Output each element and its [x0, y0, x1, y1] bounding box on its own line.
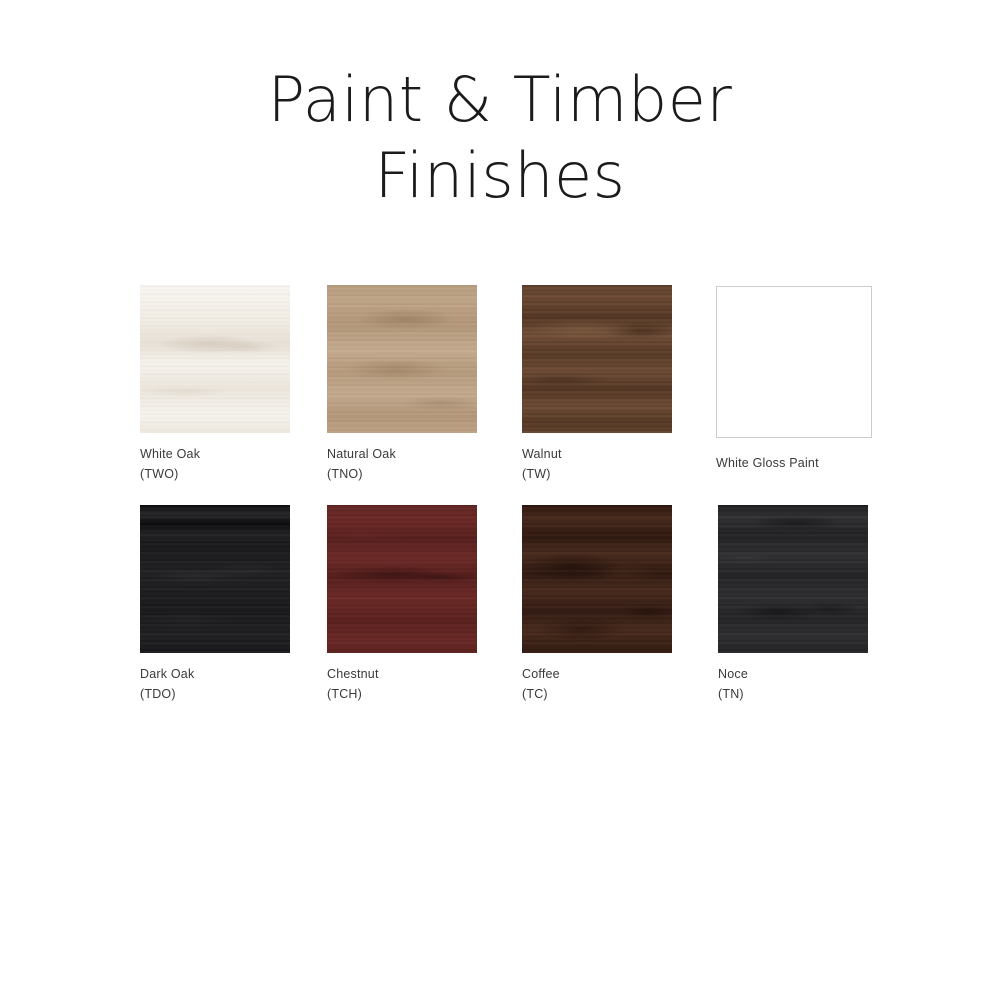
wood-grain-figure-texture — [522, 285, 672, 433]
wood-grain-figure-texture — [718, 505, 868, 653]
wood-grain-bands-texture — [140, 285, 290, 433]
wood-grain-fine-texture — [140, 505, 290, 653]
swatch-name: Chestnut — [327, 667, 379, 681]
swatch-chip-natural-oak[interactable] — [327, 285, 477, 433]
wood-grain-bands-texture — [140, 505, 290, 653]
swatch-dark-oak[interactable]: Dark Oak (TDO) — [140, 505, 290, 704]
swatch-name: Noce — [718, 667, 748, 681]
wood-grain-figure-texture — [522, 505, 672, 653]
swatch-code: (TWO) — [140, 464, 290, 484]
swatch-chip-noce[interactable] — [718, 505, 868, 653]
swatch-label-noce: Noce (TN) — [718, 664, 868, 704]
swatch-name: White Gloss Paint — [716, 456, 819, 470]
swatch-code: (TCH) — [327, 684, 477, 704]
swatch-noce[interactable]: Noce (TN) — [718, 505, 868, 704]
finishes-page: { "page": { "title": "Paint & Timber\nFi… — [0, 0, 1000, 1000]
wood-grain-figure-texture — [327, 285, 477, 433]
swatch-code: (TC) — [522, 684, 672, 704]
wood-grain-fine-texture — [522, 505, 672, 653]
swatch-row: Dark Oak (TDO) Chestnut (TCH) Coffee — [140, 505, 900, 725]
wood-grain-fine-texture — [327, 505, 477, 653]
wood-grain-bands-texture — [327, 285, 477, 433]
swatch-row: White Oak (TWO) Natural Oak (TNO) Wa — [140, 285, 900, 505]
wood-grain-fine-texture — [327, 285, 477, 433]
wood-grain-bands-texture — [522, 285, 672, 433]
swatch-name: Walnut — [522, 447, 562, 461]
wood-grain-bands-texture — [327, 505, 477, 653]
swatch-natural-oak[interactable]: Natural Oak (TNO) — [327, 285, 477, 484]
swatch-label-walnut: Walnut (TW) — [522, 444, 672, 484]
swatch-chip-white-oak[interactable] — [140, 285, 290, 433]
swatch-name: White Oak — [140, 447, 200, 461]
swatch-chip-chestnut[interactable] — [327, 505, 477, 653]
wood-grain-bands-texture — [522, 505, 672, 653]
swatch-code: (TNO) — [327, 464, 477, 484]
swatch-name: Dark Oak — [140, 667, 194, 681]
swatch-walnut[interactable]: Walnut (TW) — [522, 285, 672, 484]
wood-grain-bands-texture — [718, 505, 868, 653]
swatch-label-chestnut: Chestnut (TCH) — [327, 664, 477, 704]
swatch-label-natural-oak: Natural Oak (TNO) — [327, 444, 477, 484]
swatch-name: Natural Oak — [327, 447, 396, 461]
swatch-code: (TDO) — [140, 684, 290, 704]
wood-grain-figure-texture — [327, 505, 477, 653]
wood-grain-figure-texture — [140, 285, 290, 433]
swatch-code: (TN) — [718, 684, 868, 704]
swatch-white-gloss-paint[interactable]: White Gloss Paint — [716, 286, 872, 473]
swatch-white-oak[interactable]: White Oak (TWO) — [140, 285, 290, 484]
swatch-label-white-gloss-paint: White Gloss Paint — [716, 453, 872, 473]
wood-grain-fine-texture — [140, 285, 290, 433]
swatch-code: (TW) — [522, 464, 672, 484]
wood-grain-figure-texture — [140, 505, 290, 653]
swatch-label-dark-oak: Dark Oak (TDO) — [140, 664, 290, 704]
swatch-chip-coffee[interactable] — [522, 505, 672, 653]
swatch-name: Coffee — [522, 667, 560, 681]
swatch-chip-walnut[interactable] — [522, 285, 672, 433]
swatch-chip-white-gloss-paint[interactable] — [716, 286, 872, 438]
finish-swatch-grid: White Oak (TWO) Natural Oak (TNO) Wa — [140, 285, 900, 725]
page-title: Paint & Timber Finishes — [0, 62, 1000, 214]
swatch-label-white-oak: White Oak (TWO) — [140, 444, 290, 484]
swatch-chip-dark-oak[interactable] — [140, 505, 290, 653]
swatch-chestnut[interactable]: Chestnut (TCH) — [327, 505, 477, 704]
swatch-label-coffee: Coffee (TC) — [522, 664, 672, 704]
wood-grain-fine-texture — [522, 285, 672, 433]
swatch-coffee[interactable]: Coffee (TC) — [522, 505, 672, 704]
wood-grain-fine-texture — [718, 505, 868, 653]
